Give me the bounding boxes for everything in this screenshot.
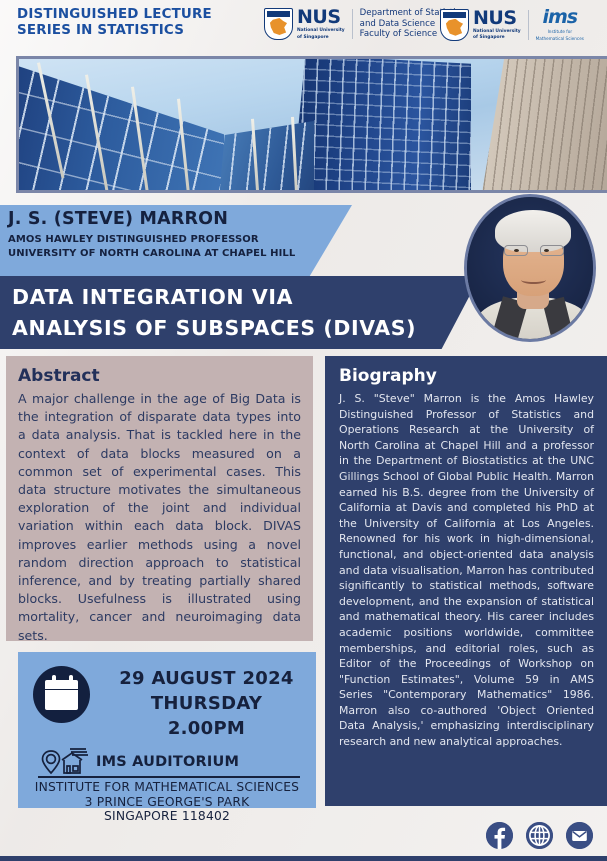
series-title-line2: SERIES IN STATISTICS xyxy=(17,23,212,39)
nus-sub-line1-2: National University xyxy=(473,29,521,34)
nus-wordmark-text: NUS xyxy=(297,8,345,27)
nus-wordmark-text-2: NUS xyxy=(473,9,521,28)
envelope-icon[interactable] xyxy=(566,822,593,849)
event-venue: IMS AUDITORIUM xyxy=(96,754,239,770)
calendar-icon xyxy=(33,666,90,723)
poster: DISTINGUISHED LECTURE SERIES IN STATISTI… xyxy=(0,0,607,861)
calendar-grid xyxy=(48,691,75,707)
talk-title: DATA INTEGRATION VIA ANALYSIS OF SUBSPAC… xyxy=(12,282,452,344)
nus-wordmark-2: NUS National University of Singapore xyxy=(473,9,521,41)
biography-panel: Biography J. S. "Steve" Marron is the Am… xyxy=(325,356,607,806)
hero-image-photo xyxy=(19,59,607,190)
event-day: THURSDAY xyxy=(104,691,309,716)
abstract-panel: Abstract A major challenge in the age of… xyxy=(6,356,313,641)
nus-wordmark: NUS National University of Singapore xyxy=(297,8,345,40)
building-left xyxy=(16,59,224,193)
avatar-glasses-icon xyxy=(503,245,565,256)
facebook-icon[interactable] xyxy=(486,822,513,849)
avatar-eye-right xyxy=(544,249,549,252)
speaker-role-line2: UNIVERSITY OF NORTH CAROLINA AT CHAPEL H… xyxy=(8,247,295,261)
speaker-affiliation: AMOS HAWLEY DISTINGUISHED PROFESSOR UNIV… xyxy=(8,233,295,260)
social-links xyxy=(486,822,593,849)
logo-divider xyxy=(352,9,353,39)
venue-divider xyxy=(38,776,300,778)
series-title: DISTINGUISHED LECTURE SERIES IN STATISTI… xyxy=(17,7,212,39)
ims-wordmark-text: ims xyxy=(543,8,578,27)
footer-rule xyxy=(0,856,607,861)
abstract-body: A major challenge in the age of Big Data… xyxy=(18,390,301,645)
nus-crest-icon xyxy=(264,8,293,40)
event-details-box: 29 AUGUST 2024 THURSDAY 2.00PM IMS AUDIT… xyxy=(18,652,316,808)
event-address-line1: INSTITUTE FOR MATHEMATICAL SCIENCES xyxy=(18,780,316,795)
event-venue-row: IMS AUDITORIUM xyxy=(40,746,300,778)
ims-sub-line2: Mathematical Sciences xyxy=(536,36,584,41)
avatar xyxy=(464,194,596,342)
abstract-heading: Abstract xyxy=(18,366,301,386)
event-time: 2.00PM xyxy=(104,716,309,741)
hero-image xyxy=(16,56,607,193)
series-title-line1: DISTINGUISHED LECTURE xyxy=(17,7,212,23)
glass-facade-panel xyxy=(219,121,314,193)
logo-divider-2 xyxy=(528,10,529,40)
event-datetime: 29 AUGUST 2024 THURSDAY 2.00PM xyxy=(104,666,309,741)
avatar-mouth xyxy=(521,276,546,284)
event-address-line3: SINGAPORE 118402 xyxy=(18,809,316,824)
nus-sub-line2-2: of Singapore xyxy=(473,35,521,40)
nus-sub-line1: National University xyxy=(297,28,345,33)
event-date: 29 AUGUST 2024 xyxy=(104,666,309,691)
map-pin-building-icon xyxy=(40,747,92,777)
nus-crest-icon-2 xyxy=(440,9,469,41)
biography-heading: Biography xyxy=(339,366,594,386)
building-right-tower xyxy=(481,57,607,193)
nus-lion-icon xyxy=(269,18,288,35)
nus-ims-logo-group: NUS National University of Singapore ims… xyxy=(440,8,584,41)
building-center-tower xyxy=(291,56,471,193)
nus-stats-logo-group: NUS National University of Singapore Dep… xyxy=(264,8,465,40)
ims-sub-line1: Institute for xyxy=(548,29,572,34)
nus-sub-line2: of Singapore xyxy=(297,35,345,40)
biography-body: J. S. "Steve" Marron is the Amos Hawley … xyxy=(339,391,594,750)
event-address: INSTITUTE FOR MATHEMATICAL SCIENCES 3 PR… xyxy=(18,780,316,824)
talk-title-line1: DATA INTEGRATION VIA xyxy=(12,282,452,313)
avatar-eye-left xyxy=(514,249,519,252)
speaker-role-line1: AMOS HAWLEY DISTINGUISHED PROFESSOR xyxy=(8,233,295,247)
ims-logo: ims Institute for Mathematical Sciences xyxy=(536,8,584,41)
speaker-name: J. S. (STEVE) MARRON xyxy=(8,209,228,229)
poster-header: DISTINGUISHED LECTURE SERIES IN STATISTI… xyxy=(0,0,607,47)
globe-icon[interactable] xyxy=(526,822,553,849)
event-address-line2: 3 PRINCE GEORGE'S PARK xyxy=(18,795,316,810)
calendar-separator xyxy=(45,689,78,691)
nus-lion-icon-2 xyxy=(445,19,464,36)
talk-title-line2: ANALYSIS OF SUBSPACES (DIVAS) xyxy=(12,313,452,344)
